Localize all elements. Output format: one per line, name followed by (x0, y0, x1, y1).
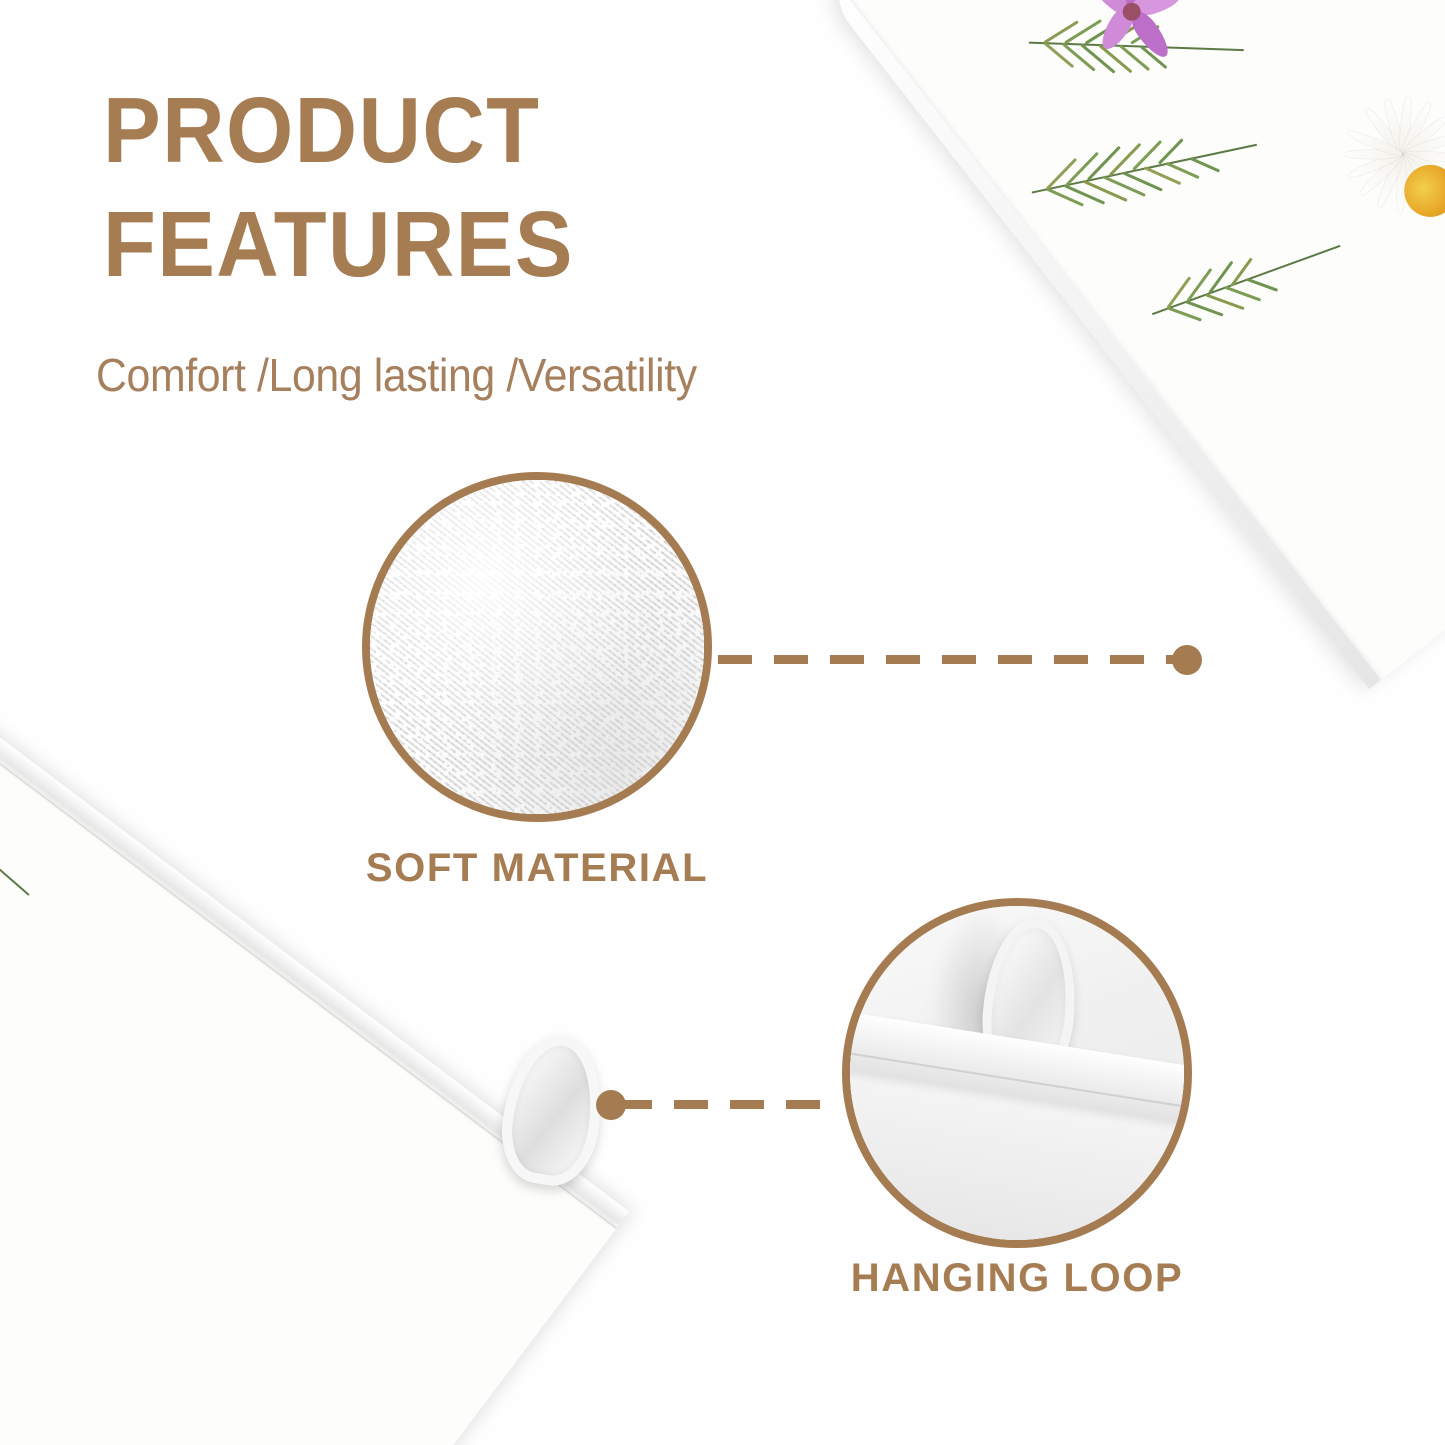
connector-hanging-loop (618, 1100, 840, 1109)
title-line-2: FEATURES (103, 198, 773, 290)
hanging-loop-circle[interactable] (842, 898, 1192, 1248)
hanging-loop-on-towel (494, 1028, 612, 1191)
hanging-loop-label: HANGING LOOP (817, 1256, 1217, 1301)
terry-texture-photo (370, 480, 704, 814)
soft-material-circle[interactable] (362, 472, 712, 822)
infographic-canvas: PRODUCT FEATURES Comfort /Long lasting /… (0, 0, 1445, 1445)
title-line-1: PRODUCT (103, 84, 773, 176)
connector-dot-icon (1172, 645, 1202, 675)
connector-soft-material (718, 655, 1182, 664)
feature-callout-hanging-loop (842, 898, 1192, 1248)
hanging-loop-photo (850, 906, 1184, 1240)
hummingbird-motif (0, 1332, 60, 1445)
subtitle: Comfort /Long lasting /Versatility (96, 348, 697, 402)
towel-top-right (775, 0, 1445, 890)
fern-motif (0, 776, 83, 992)
soft-material-label: SOFT MATERIAL (362, 846, 712, 891)
page-title: PRODUCT FEATURES (103, 84, 823, 290)
feature-callout-soft-material (362, 472, 712, 822)
